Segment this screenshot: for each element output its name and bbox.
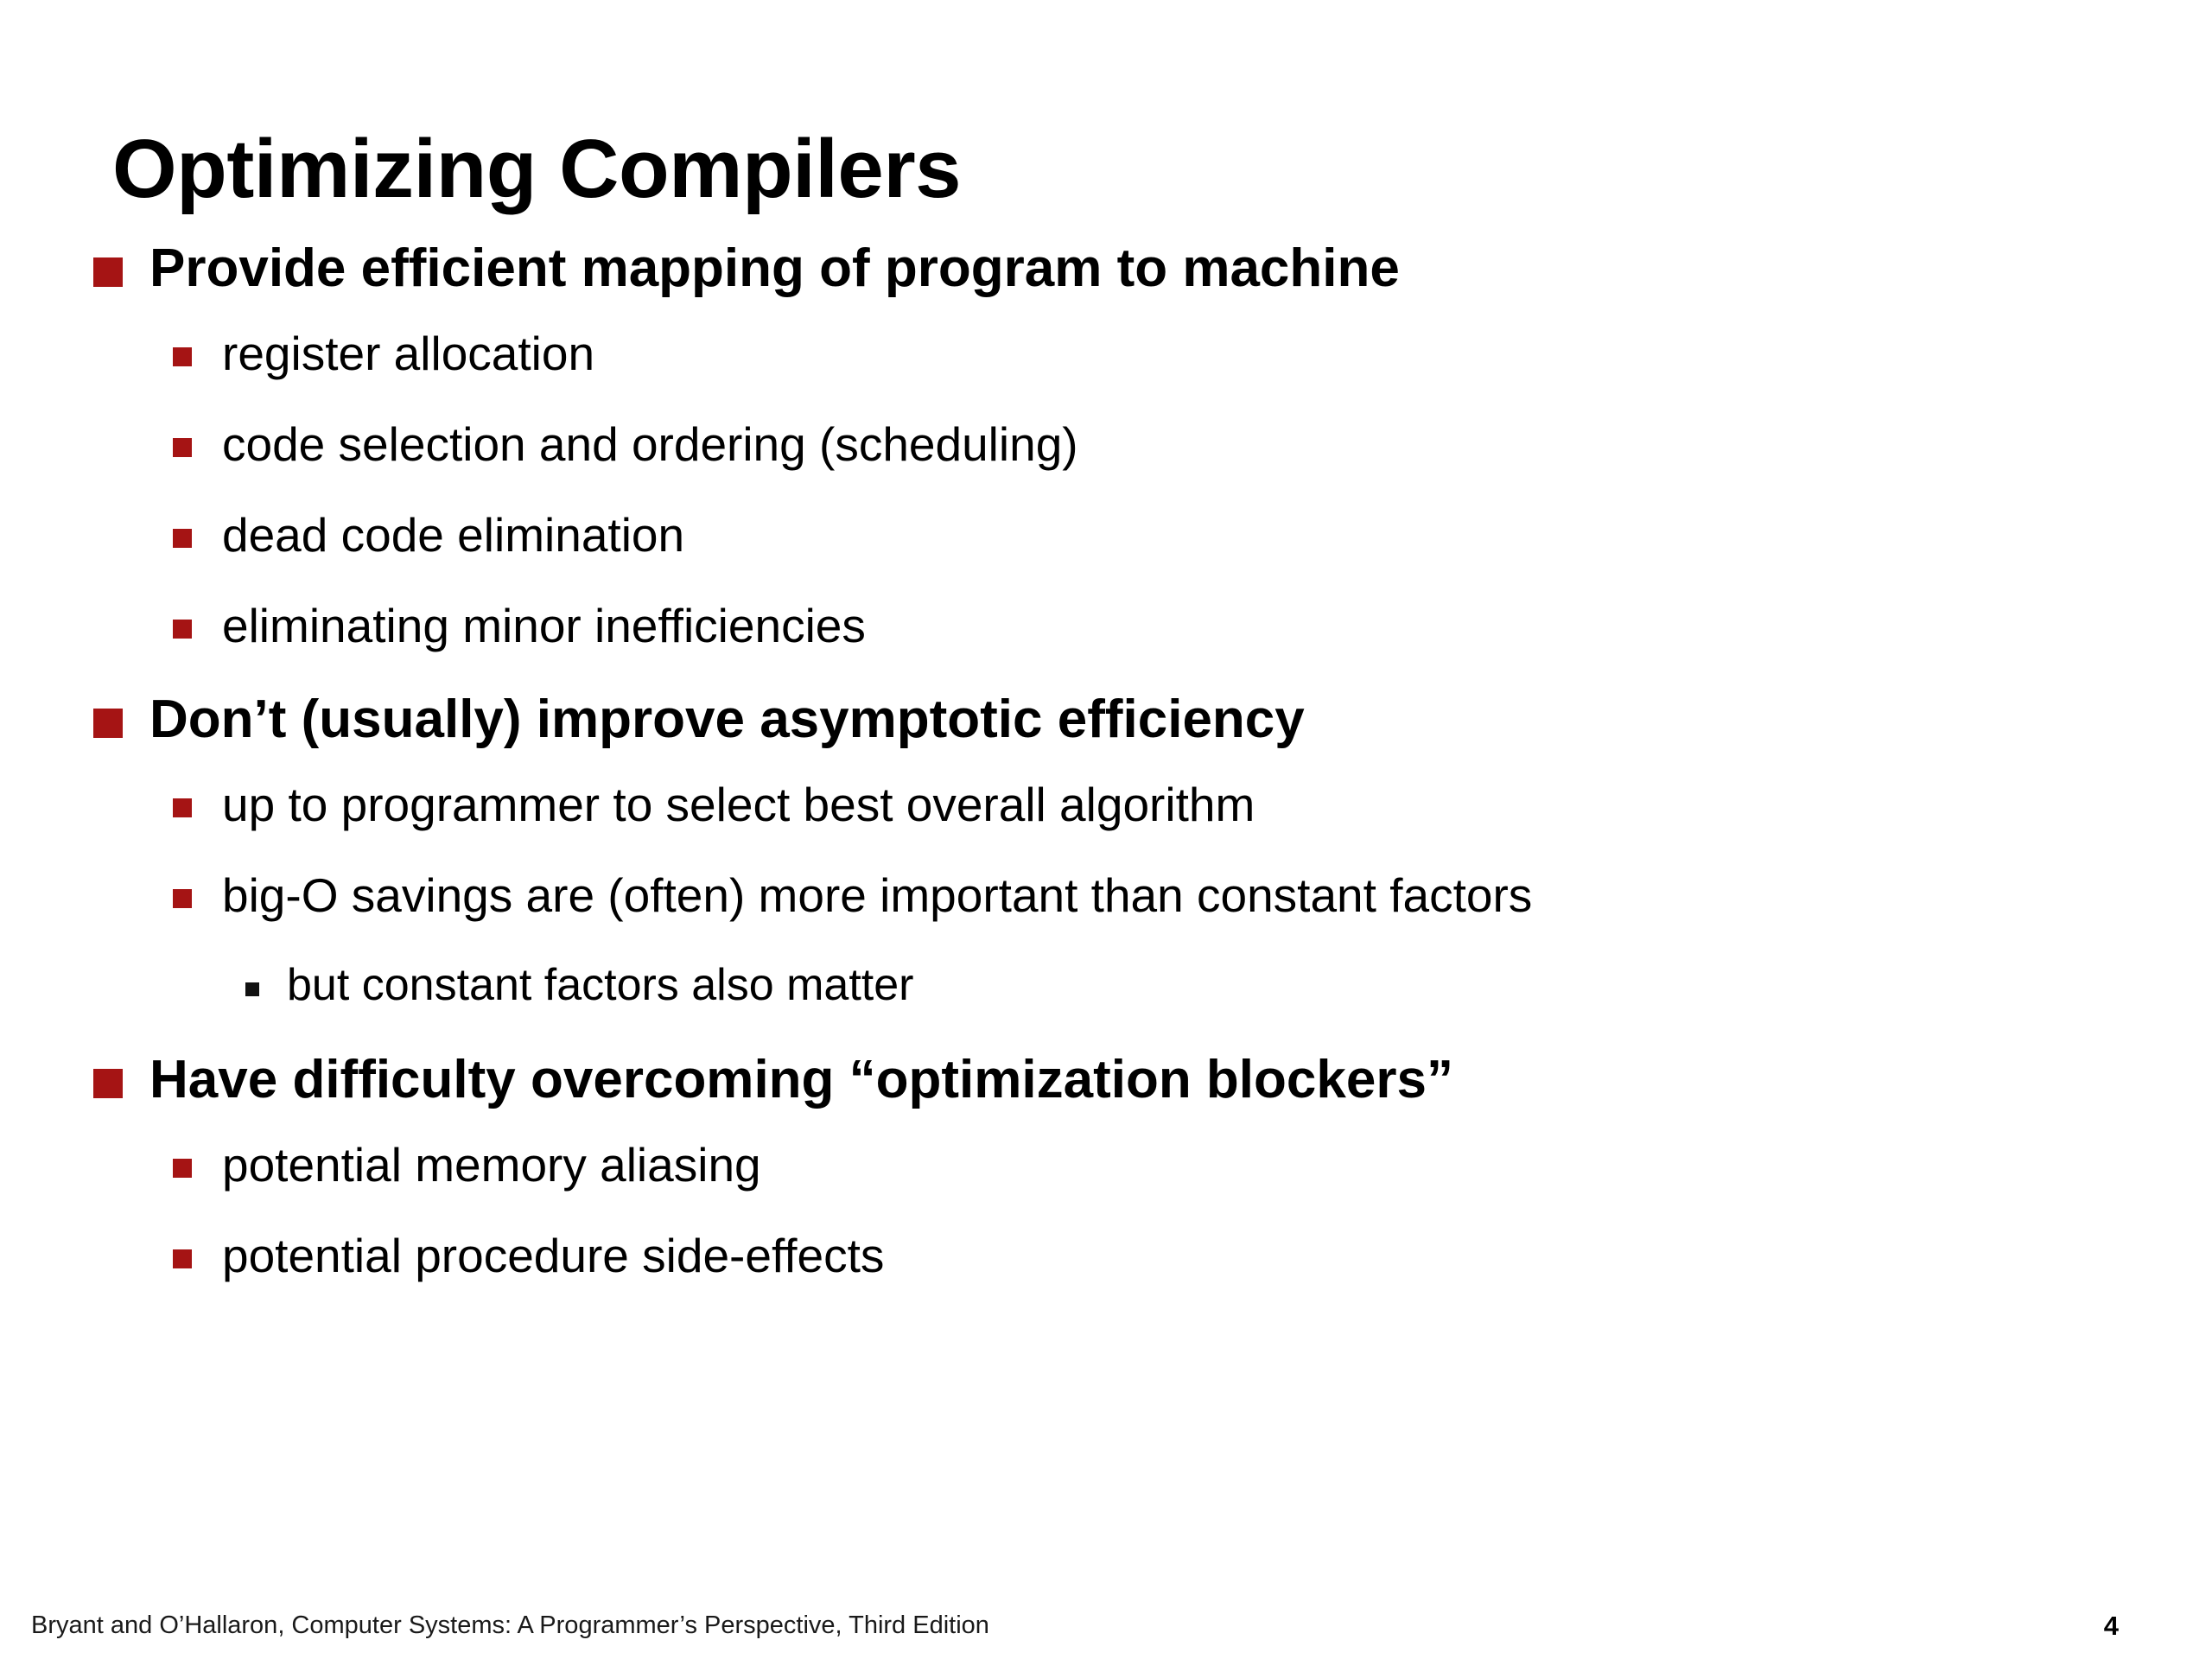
- outline-item-label: Have difficulty overcoming “optimization…: [149, 1053, 1453, 1107]
- red-small-square-bullet-icon: [173, 438, 192, 457]
- outline-item-label: Don’t (usually) improve asymptotic effic…: [149, 693, 1305, 747]
- outline-item-level2: dead code elimination: [0, 505, 2212, 595]
- outline-item-level1: Don’t (usually) improve asymptotic effic…: [0, 686, 2212, 774]
- red-square-bullet-icon: [93, 709, 123, 738]
- outline-item-label: Provide efficient mapping of program to …: [149, 242, 1400, 296]
- slide-canvas: Optimizing Compilers Provide efficient m…: [0, 0, 2212, 1659]
- outline-item-level2: register allocation: [0, 323, 2212, 414]
- black-tiny-square-bullet-icon: [245, 982, 259, 996]
- red-small-square-bullet-icon: [173, 1249, 192, 1268]
- outline-item-level2: up to programmer to select best overall …: [0, 774, 2212, 865]
- outline-item-label: eliminating minor inefficiencies: [222, 602, 866, 650]
- outline-item-level2: potential memory aliasing: [0, 1135, 2212, 1225]
- outline-item-label: register allocation: [222, 330, 594, 378]
- red-small-square-bullet-icon: [173, 798, 192, 817]
- red-small-square-bullet-icon: [173, 1159, 192, 1178]
- slide-body-outline: Provide efficient mapping of program to …: [0, 235, 2212, 1316]
- outline-item-label: dead code elimination: [222, 512, 684, 559]
- page-title: Optimizing Compilers: [112, 126, 961, 213]
- page-number: 4: [2104, 1611, 2119, 1642]
- outline-item-label: up to programmer to select best overall …: [222, 781, 1255, 829]
- outline-item-level2: big-O savings are (often) more important…: [0, 865, 2212, 956]
- red-square-bullet-icon: [93, 257, 123, 287]
- red-small-square-bullet-icon: [173, 889, 192, 908]
- outline-item-level1: Have difficulty overcoming “optimization…: [0, 1046, 2212, 1135]
- outline-item-level3: but constant factors also matter: [0, 956, 2212, 1046]
- red-small-square-bullet-icon: [173, 529, 192, 548]
- footer-attribution: Bryant and O’Hallaron, Computer Systems:…: [31, 1611, 989, 1640]
- red-small-square-bullet-icon: [173, 347, 192, 366]
- outline-item-level2: potential procedure side-effects: [0, 1225, 2212, 1316]
- outline-item-label: but constant factors also matter: [287, 963, 913, 1007]
- outline-item-label: code selection and ordering (scheduling): [222, 421, 1078, 468]
- red-square-bullet-icon: [93, 1069, 123, 1098]
- outline-item-level2: eliminating minor inefficiencies: [0, 595, 2212, 686]
- outline-item-level1: Provide efficient mapping of program to …: [0, 235, 2212, 323]
- outline-item-label: potential memory aliasing: [222, 1141, 761, 1189]
- outline-item-label: big-O savings are (often) more important…: [222, 872, 1532, 919]
- outline-item-label: potential procedure side-effects: [222, 1232, 884, 1280]
- outline-item-level2: code selection and ordering (scheduling): [0, 414, 2212, 505]
- red-small-square-bullet-icon: [173, 620, 192, 639]
